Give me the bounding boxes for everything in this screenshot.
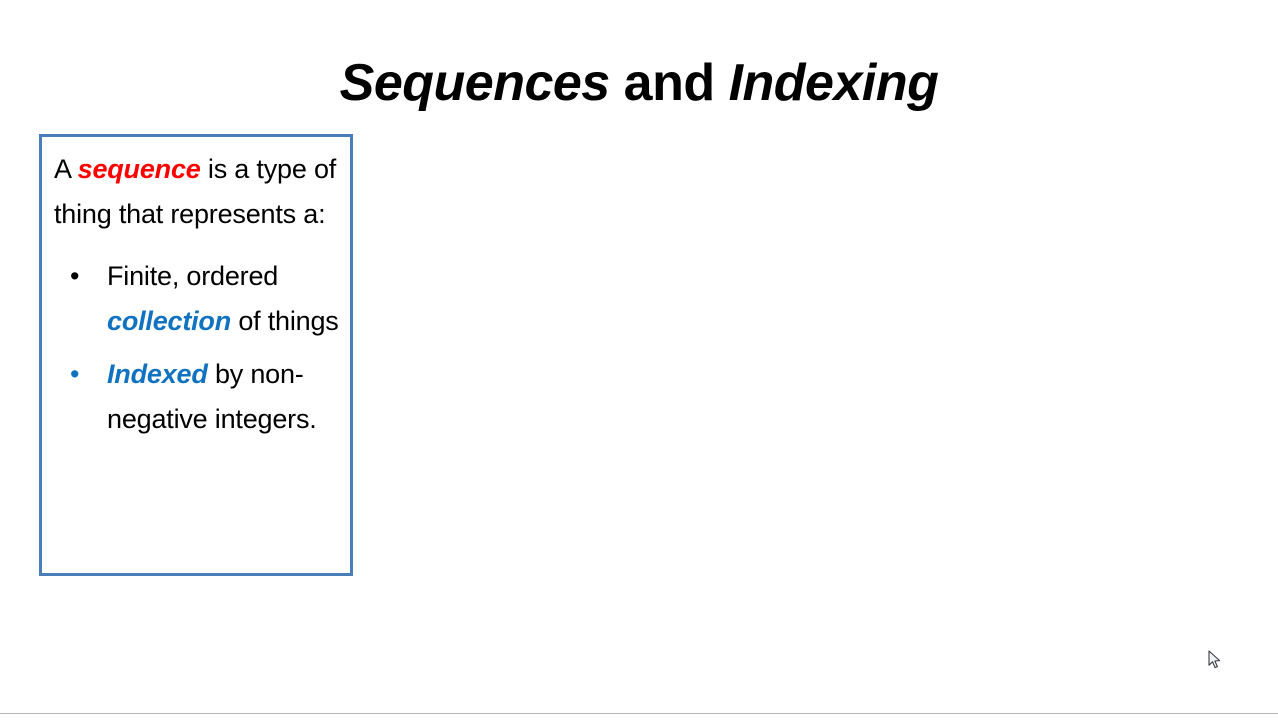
title-part-indexing: Indexing: [729, 54, 939, 112]
list-item: •Finite, ordered collection of things: [54, 254, 342, 344]
title-part-and: and: [610, 54, 729, 112]
slide-canvas: Sequences and Indexing A sequence is a t…: [0, 0, 1278, 713]
list-item: •Indexed by non-negative integers.: [54, 352, 342, 442]
bottom-bar: [0, 714, 1278, 720]
lead-text-before: A: [54, 154, 78, 184]
title-part-sequences: Sequences: [340, 54, 610, 112]
keyword-sequence: sequence: [78, 154, 201, 184]
bullet-dot-icon: •: [70, 352, 79, 397]
definition-box: A sequence is a type of thing that repre…: [39, 134, 353, 576]
definition-lead-paragraph: A sequence is a type of thing that repre…: [54, 147, 342, 237]
keyword-indexed: Indexed: [107, 359, 208, 389]
bullet-dot-icon: •: [70, 254, 79, 299]
page-title: Sequences and Indexing: [0, 52, 1278, 114]
keyword-collection: collection: [107, 306, 231, 336]
bullet-text-after: of things: [231, 306, 339, 336]
bullet-text-before: Finite, ordered: [107, 261, 278, 291]
definition-bullet-list: •Finite, ordered collection of things •I…: [54, 254, 342, 442]
